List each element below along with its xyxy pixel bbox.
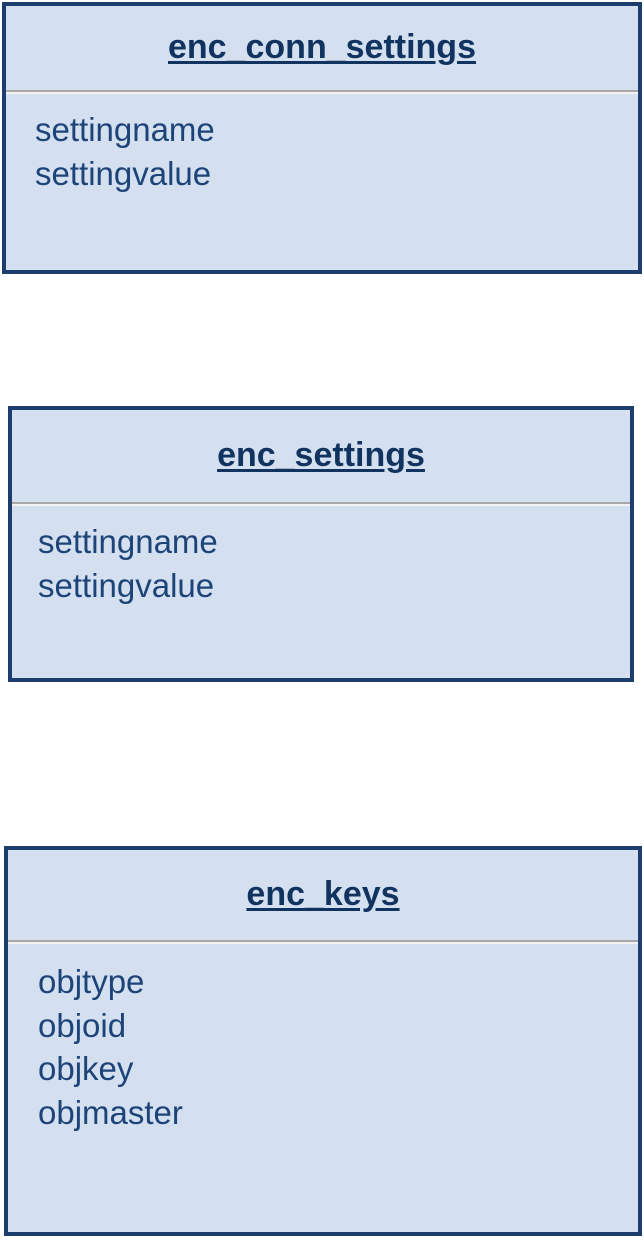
entity-attribute: settingvalue [35,152,638,196]
entity-attribute: objkey [38,1047,638,1091]
entity-attribute-list-enc-conn-settings: settingname settingvalue [6,94,638,270]
entity-attribute: settingname [35,108,638,152]
entity-header-enc-keys: enc_keys [8,850,638,940]
entity-enc-settings[interactable]: enc_settings settingname settingvalue [8,406,634,682]
entity-title-enc-keys: enc_keys [246,877,399,913]
entity-header-enc-conn-settings: enc_conn_settings [6,6,638,90]
entity-attribute: objoid [38,1004,638,1048]
entity-header-enc-settings: enc_settings [12,410,630,502]
entity-enc-conn-settings[interactable]: enc_conn_settings settingname settingval… [2,2,642,274]
entity-title-enc-settings: enc_settings [217,438,425,474]
entity-attribute: settingvalue [38,564,630,608]
entity-attribute: settingname [38,520,630,564]
entity-attribute-list-enc-settings: settingname settingvalue [12,506,630,678]
entity-attribute: objtype [38,960,638,1004]
entity-attribute: objmaster [38,1091,638,1135]
entity-title-enc-conn-settings: enc_conn_settings [168,30,476,66]
entity-attribute-list-enc-keys: objtype objoid objkey objmaster [8,944,638,1232]
entity-diagram-canvas: enc_conn_settings settingname settingval… [0,0,644,1242]
entity-enc-keys[interactable]: enc_keys objtype objoid objkey objmaster [4,846,642,1236]
